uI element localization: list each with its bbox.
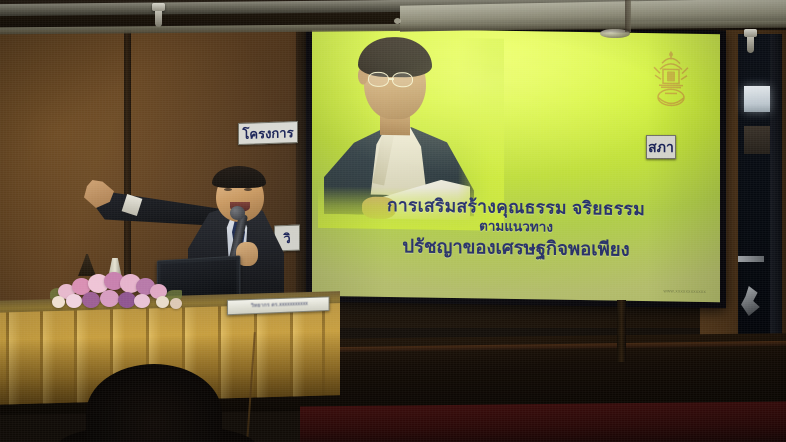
speaker-eye-left: [224, 188, 232, 191]
portrait-glasses-right: [392, 72, 413, 87]
screen-top-bracket: [625, 0, 631, 32]
portrait-glasses-bridge: [389, 78, 394, 80]
door-edge: [770, 34, 782, 364]
royal-cypher-emblem: [648, 49, 694, 118]
alcove-panel: [744, 126, 770, 154]
screen-support-post: [617, 300, 626, 362]
slide-line-3: ปรัชญาของเศรษฐกิจพอเพียง: [312, 234, 720, 262]
king-bhumibol-portrait: [318, 36, 478, 215]
spotlight-center: [394, 18, 401, 24]
portrait-glasses-left: [368, 72, 389, 87]
alcove-light-strip: [738, 256, 764, 262]
speaker-eye-right: [244, 188, 252, 191]
flower-arrangement: [48, 262, 184, 312]
speaker-hair: [212, 166, 266, 188]
projection-screen: การเสริมสร้างคุณธรรม จริยธรรม ตามแนวทาง …: [312, 28, 720, 302]
spotlight-left: [152, 3, 165, 11]
slide-watermark: www.xxxxxxxxxxxx: [663, 288, 706, 294]
microphone-head: [230, 206, 245, 220]
wall-sign-right: สภา: [646, 135, 676, 159]
portrait-hair: [358, 37, 432, 78]
slide-text-block: การเสริมสร้างคุณธรรม จริยธรรม ตามแนวทาง …: [312, 194, 720, 262]
bright-window: [744, 86, 770, 112]
spotlight-right: [744, 29, 757, 37]
floor: [300, 401, 786, 442]
wall-sign-project: โครงการ: [238, 121, 298, 145]
conference-hall-photo: การเสริมสร้างคุณธรรม จริยธรรม ตามแนวทาง …: [0, 0, 786, 442]
